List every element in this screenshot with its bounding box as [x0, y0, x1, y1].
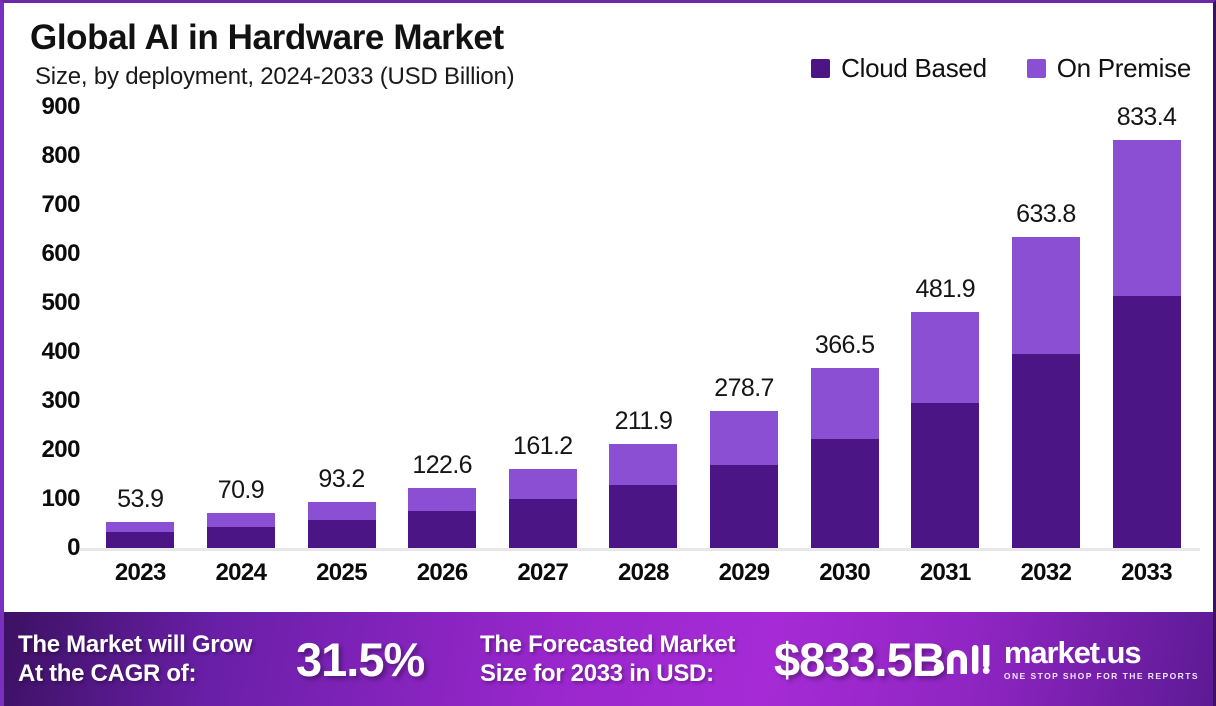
bar-column[interactable]: 278.7: [705, 107, 783, 548]
legend-label-on-premise: On Premise: [1057, 53, 1191, 84]
bar-stack: [1012, 237, 1080, 548]
logo-wordmark: market.us ONE STOP SHOP FOR THE REPORTS: [1004, 637, 1199, 681]
bar-stack: [106, 522, 174, 548]
legend-item-on-premise[interactable]: On Premise: [1027, 53, 1191, 84]
bar-segment-on-premise[interactable]: [1012, 237, 1080, 354]
chart-legend: Cloud Based On Premise: [811, 53, 1191, 84]
bar-column[interactable]: 93.2: [303, 107, 381, 548]
footer-banner: The Market will Grow At the CAGR of: 31.…: [4, 612, 1213, 706]
y-axis-tick: 400: [4, 338, 80, 366]
y-axis-tick: 300: [4, 387, 80, 415]
bar-segment-on-premise[interactable]: [106, 522, 174, 532]
y-axis-tick: 600: [4, 240, 80, 268]
bar-column[interactable]: 122.6: [403, 107, 481, 548]
x-axis-tick: 2032: [1007, 559, 1085, 587]
cagr-value: 31.5%: [296, 632, 474, 687]
bar-stack: [308, 502, 376, 548]
bar-stack: [408, 488, 476, 548]
market-us-logo-icon: [933, 638, 995, 681]
bar-column[interactable]: 70.9: [202, 107, 280, 548]
bar-stack: [509, 469, 577, 548]
forecast-caption: The Forecasted Market Size for 2033 in U…: [480, 630, 770, 689]
x-axis-tick: 2026: [403, 559, 481, 587]
bar-segment-on-premise[interactable]: [207, 513, 275, 526]
logo-tagline: ONE STOP SHOP FOR THE REPORTS: [1004, 671, 1199, 681]
bar-value-label: 93.2: [318, 465, 364, 494]
x-axis: 2023202420252026202720282029203020312032…: [90, 559, 1197, 587]
bar-segment-on-premise[interactable]: [811, 368, 879, 439]
x-axis-tick: 2027: [504, 559, 582, 587]
bar-stack: [207, 513, 275, 548]
bar-segment-on-premise[interactable]: [710, 411, 778, 465]
x-axis-tick: 2023: [101, 559, 179, 587]
chart-infographic: Global AI in Hardware Market Size, by de…: [0, 0, 1216, 706]
bar-stack: [609, 444, 677, 548]
cagr-caption: The Market will Grow At the CAGR of:: [18, 630, 286, 689]
y-axis-tick: 200: [4, 436, 80, 464]
bar-stack: [710, 411, 778, 548]
bar-stack: [911, 312, 979, 548]
bar-segment-cloud-based[interactable]: [1012, 354, 1080, 548]
chart-subtitle: Size, by deployment, 2024-2033 (USD Bill…: [35, 63, 514, 91]
bar-segment-on-premise[interactable]: [1113, 140, 1181, 297]
bar-value-label: 366.5: [815, 331, 875, 360]
y-axis-tick: 900: [4, 93, 80, 121]
bar-segment-cloud-based[interactable]: [207, 527, 275, 549]
y-axis-tick: 700: [4, 191, 80, 219]
legend-swatch-cloud-based-icon: [811, 59, 830, 78]
bar-segment-cloud-based[interactable]: [1113, 296, 1181, 548]
x-axis-tick: 2033: [1108, 559, 1186, 587]
bar-column[interactable]: 633.8: [1007, 107, 1085, 548]
bar-column[interactable]: 161.2: [504, 107, 582, 548]
bar-value-label: 122.6: [412, 451, 472, 480]
legend-swatch-on-premise-icon: [1027, 59, 1046, 78]
x-axis-tick: 2031: [906, 559, 984, 587]
bar-segment-cloud-based[interactable]: [811, 439, 879, 548]
y-axis-tick: 0: [4, 534, 80, 562]
axis-baseline: [80, 548, 1200, 551]
x-axis-tick: 2028: [604, 559, 682, 587]
chart-plot-area: 9008007006005004003002001000 53.970.993.…: [4, 107, 1213, 609]
bar-value-label: 211.9: [615, 407, 673, 436]
bar-segment-on-premise[interactable]: [609, 444, 677, 485]
bar-value-label: 481.9: [916, 275, 976, 304]
y-axis-tick: 500: [4, 289, 80, 317]
bar-column[interactable]: 53.9: [101, 107, 179, 548]
bar-segment-on-premise[interactable]: [308, 502, 376, 519]
bar-value-label: 278.7: [714, 374, 774, 403]
bar-value-label: 70.9: [218, 476, 264, 505]
y-axis-tick: 800: [4, 142, 80, 170]
bar-segment-cloud-based[interactable]: [509, 499, 577, 548]
bar-segment-cloud-based[interactable]: [710, 465, 778, 548]
bar-value-label: 161.2: [513, 432, 573, 461]
brand-logo[interactable]: market.us ONE STOP SHOP FOR THE REPORTS: [933, 637, 1199, 681]
bar-segment-on-premise[interactable]: [911, 312, 979, 403]
legend-item-cloud-based[interactable]: Cloud Based: [811, 53, 987, 84]
bar-value-label: 833.4: [1117, 103, 1177, 132]
bar-segment-cloud-based[interactable]: [911, 403, 979, 548]
bar-column[interactable]: 211.9: [604, 107, 682, 548]
bar-column[interactable]: 366.5: [806, 107, 884, 548]
y-axis-tick: 100: [4, 485, 80, 513]
x-axis-tick: 2030: [806, 559, 884, 587]
bar-stack: [1113, 140, 1181, 548]
logo-name: market.us: [1004, 637, 1199, 668]
x-axis-tick: 2024: [202, 559, 280, 587]
bar-segment-on-premise[interactable]: [408, 488, 476, 511]
bar-column[interactable]: 481.9: [906, 107, 984, 548]
bars-container: 53.970.993.2122.6161.2211.9278.7366.5481…: [90, 107, 1197, 548]
bar-value-label: 53.9: [117, 485, 163, 514]
bar-value-label: 633.8: [1016, 200, 1076, 229]
bar-stack: [811, 368, 879, 548]
bar-segment-cloud-based[interactable]: [106, 532, 174, 548]
page-title: Global AI in Hardware Market: [30, 18, 504, 58]
bar-segment-cloud-based[interactable]: [609, 485, 677, 548]
bar-segment-cloud-based[interactable]: [408, 511, 476, 548]
x-axis-tick: 2029: [705, 559, 783, 587]
bar-column[interactable]: 833.4: [1108, 107, 1186, 548]
bar-segment-cloud-based[interactable]: [308, 520, 376, 548]
x-axis-tick: 2025: [303, 559, 381, 587]
bar-segment-on-premise[interactable]: [509, 469, 577, 499]
y-axis: 9008007006005004003002001000: [4, 107, 90, 562]
legend-label-cloud-based: Cloud Based: [841, 53, 987, 84]
forecast-value: $833.5B: [774, 632, 945, 687]
